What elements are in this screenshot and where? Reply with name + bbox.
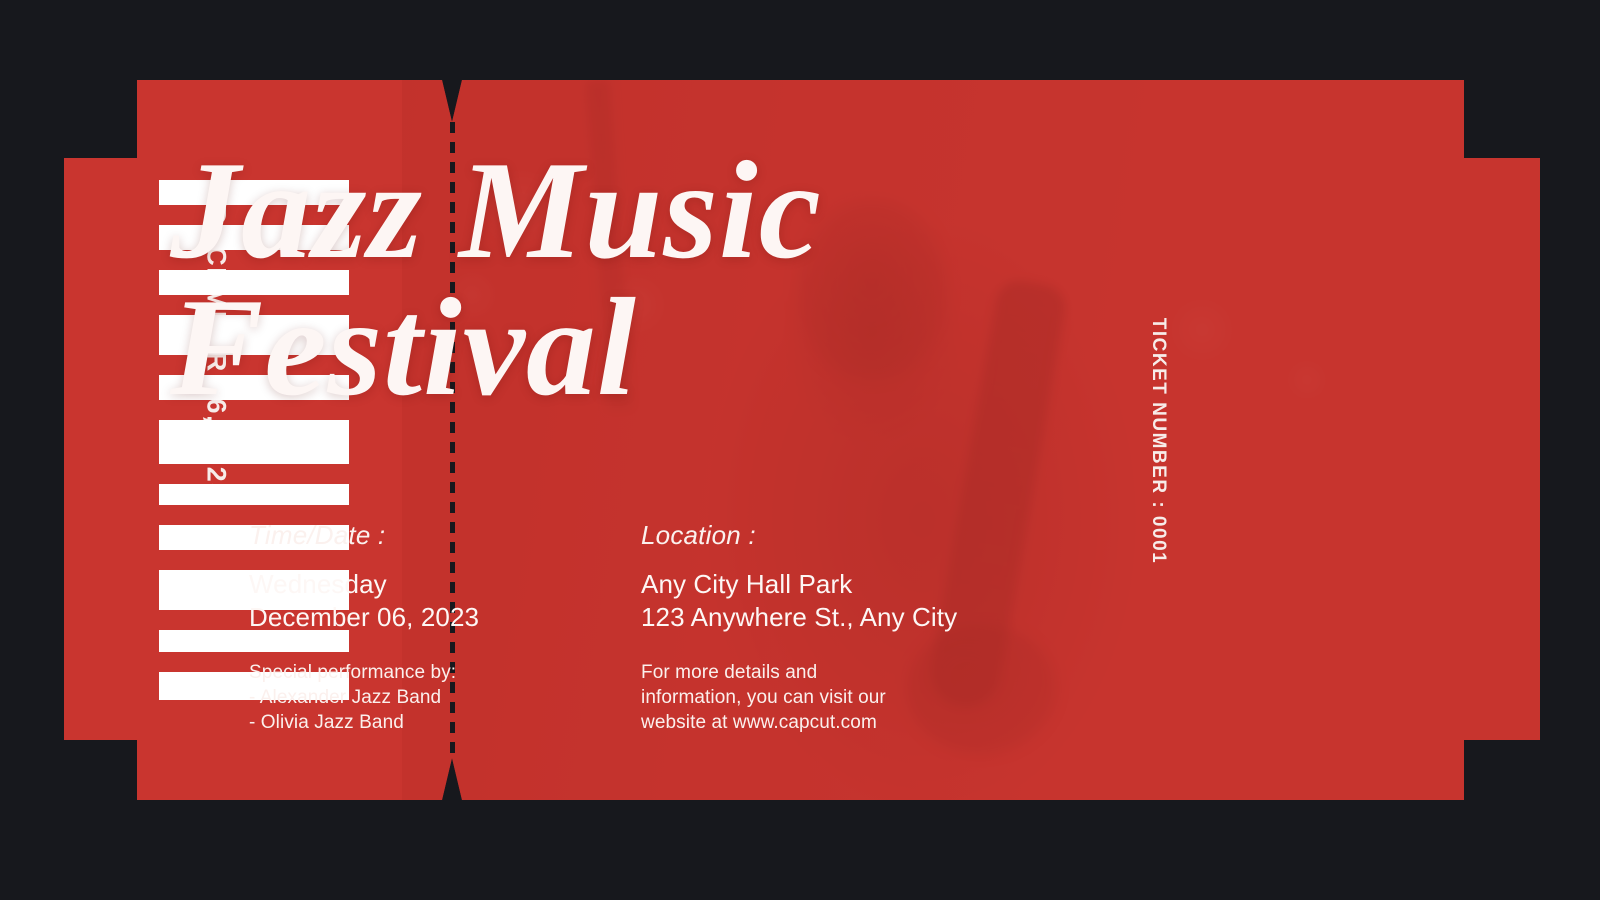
event-title-line-1: Jazz Music [170, 133, 822, 288]
event-ticket[interactable]: DECEMBER 06, 2023 Jazz Music Festival Ti [64, 80, 1540, 800]
time-date-block: Time/Date : Wednesday December 06, 2023 … [249, 520, 641, 736]
location-block: Location : Any City Hall Park 123 Anywhe… [641, 520, 1101, 736]
ticket-content: Jazz Music Festival Time/Date : Wednesda… [64, 80, 1540, 800]
time-date-value: Wednesday December 06, 2023 [249, 568, 641, 634]
more-details-note: For more details and information, you ca… [641, 661, 1101, 736]
ticket-details: Time/Date : Wednesday December 06, 2023 … [249, 520, 1149, 736]
event-title: Jazz Music Festival [170, 142, 1050, 416]
event-title-line-2: Festival [170, 279, 1050, 416]
location-value: Any City Hall Park 123 Anywhere St., Any… [641, 568, 1101, 634]
location-label: Location : [641, 520, 1101, 551]
time-date-label: Time/Date : [249, 520, 641, 551]
special-performance-note: Special performance by: - Alexander Jazz… [249, 661, 641, 736]
ticket-canvas: DECEMBER 06, 2023 Jazz Music Festival Ti [0, 0, 1600, 900]
